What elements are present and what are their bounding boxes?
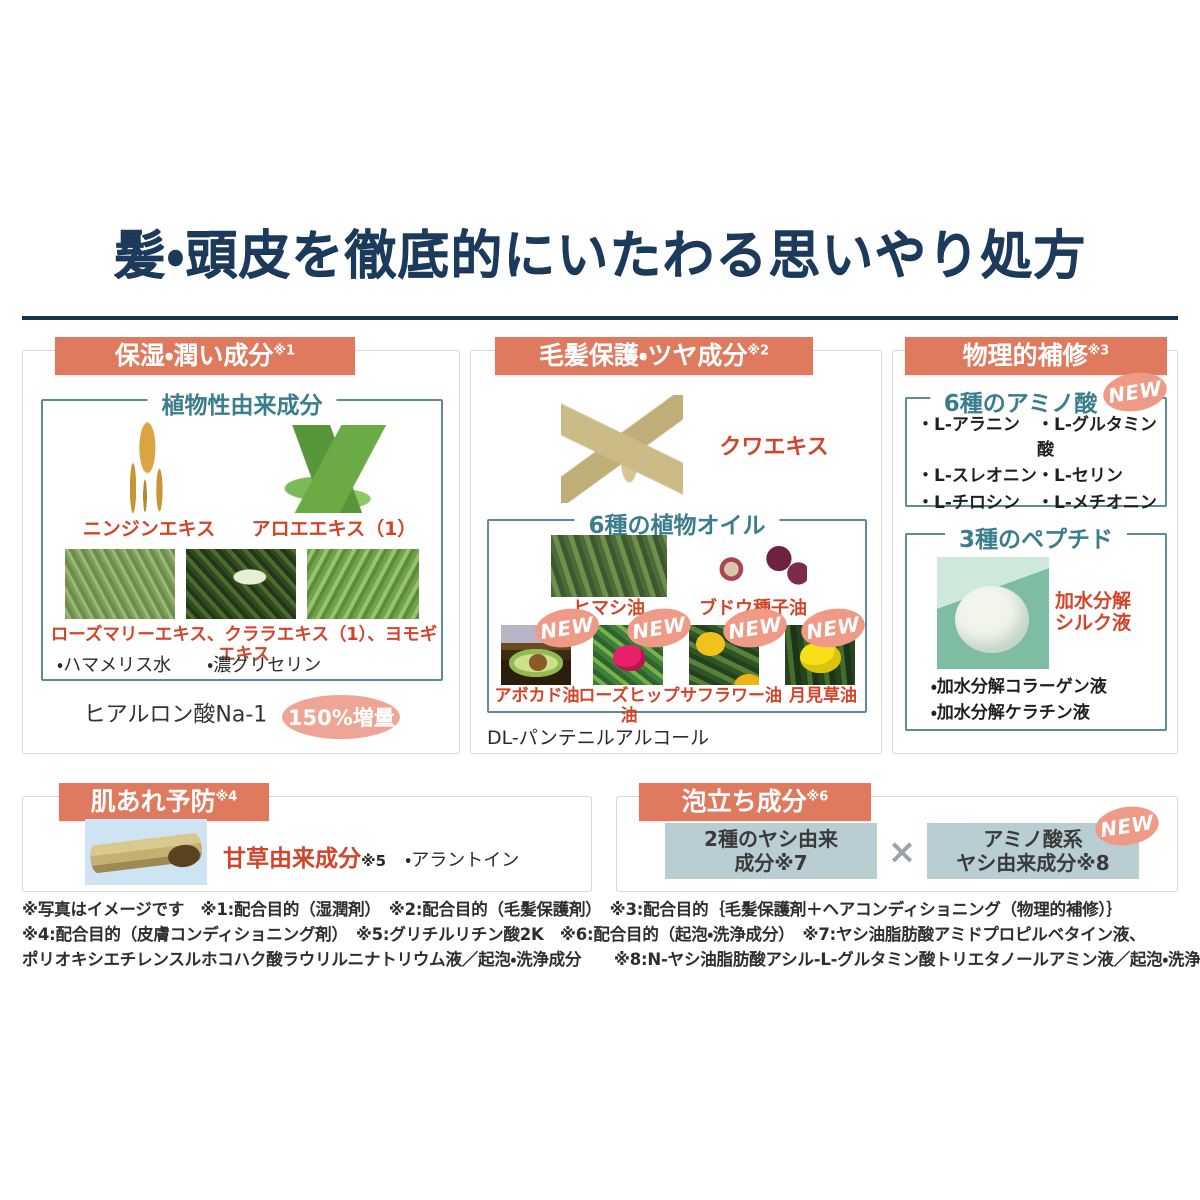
amino-item-2: ・L-スレオニン <box>917 464 1037 489</box>
licorice-photo <box>85 819 207 885</box>
hydrolyzed-silk-line1: 加水分解 <box>1055 591 1161 613</box>
panel-protect-header: 毛髪保護・ツヤ成分※2 <box>495 337 813 375</box>
avocado-oil-label: アボカド油 <box>489 687 585 707</box>
panel-protect-header-label: 毛髪保護・ツヤ成分 <box>539 341 748 370</box>
panthenol-label: DL-パンテニルアルコール <box>487 723 709 750</box>
foam-amino-line1: アミノ酸系 <box>956 827 1109 851</box>
panel-moisture: 保湿・潤い成分※1 植物性由来成分 ニンジンエキス アロエエキス（1） ローズマ… <box>22 350 460 754</box>
panel-skin-care-header-note: ※4 <box>216 790 238 805</box>
amino-item-0: ・L-アラニン <box>917 413 1037 462</box>
rosemary-photo <box>65 549 175 619</box>
panel-foam-header-label: 泡立ち成分 <box>682 787 807 816</box>
panel-foam-header: 泡立ち成分※6 <box>639 783 871 821</box>
safflower-oil-label: サフラワー油 <box>677 687 785 707</box>
moisture-sub-items: ・ハマメリス水 ・濃グリセリン <box>57 651 437 677</box>
foam-coconut-line2: 成分※7 <box>704 851 838 875</box>
hyaluronic-increase-badge: 150%増量 <box>282 695 400 739</box>
infographic-page: 髪・頭皮を徹底的にいたわる思いやり処方 保湿・潤い成分※1 植物性由来成分 ニン… <box>0 0 1200 1200</box>
panel-moisture-header-label: 保湿・潤い成分 <box>115 341 274 370</box>
moisture-plant-box-legend: 植物性由来成分 <box>148 386 337 420</box>
plant-oils-box: 6種の植物オイル ヒマシ油 ブドウ種子油 NEW アボカド油 NEW ローズヒッ… <box>487 519 867 713</box>
hyaluronic-label: ヒアルロン酸Na-1 <box>84 703 268 728</box>
panel-repair-header: 物理的補修※3 <box>905 337 1167 375</box>
footnotes: ※写真はイメージです ※1:配合目的（湿潤剤） ※2:配合目的（毛髪保護剤） ※… <box>22 898 1182 972</box>
evening-primrose-oil-label: 月見草油 <box>777 687 869 707</box>
foam-amino-line2: ヤシ由来成分※8 <box>956 851 1109 875</box>
peptide-box-legend: 3種のペプチド <box>945 520 1127 554</box>
yomogi-photo <box>307 549 419 619</box>
amino-item-1: ・L-グルタミン酸 <box>1037 413 1161 462</box>
castor-oil-photo <box>551 535 667 597</box>
panel-skin-care: 肌あれ予防※4 甘草由来成分※5 ・アラントイン <box>22 796 592 892</box>
silk-photo <box>937 557 1049 669</box>
aloe-photo <box>255 425 395 513</box>
licorice-label: 甘草由来成分 <box>223 846 361 872</box>
ginseng-photo <box>85 419 205 515</box>
footnote-line-2: ポリオキシエチレンスルホコハク酸ラウリルニナトリウム液／起泡・洗浄成分 ※8:N… <box>22 948 1182 973</box>
hydrolyzed-silk-label: 加水分解 シルク液 <box>1055 591 1161 635</box>
panel-protect-header-note: ※2 <box>747 344 769 359</box>
panel-repair-header-label: 物理的補修 <box>963 341 1088 370</box>
panel-foam-header-note: ※6 <box>807 790 829 805</box>
panel-skin-care-header-label: 肌あれ予防 <box>91 787 216 816</box>
page-title-wrap: 髪・頭皮を徹底的にいたわる思いやり処方 <box>0 228 1200 285</box>
grapeseed-oil-photo <box>699 535 807 597</box>
foam-box-coconut: 2種のヤシ由来 成分※7 <box>665 823 877 879</box>
licorice-text-row: 甘草由来成分※5 ・アラントイン <box>223 839 519 873</box>
panel-repair-header-note: ※3 <box>1088 344 1110 359</box>
foam-coconut-line1: 2種のヤシ由来 <box>704 827 838 851</box>
amino-item-5: ・L-メチオニン <box>1037 491 1161 516</box>
peptide-item-0: ・加水分解コラーゲン液 <box>931 675 1107 701</box>
rosehip-oil-label: ローズヒップ油 <box>573 687 685 726</box>
ginseng-label: ニンジンエキス <box>67 519 231 541</box>
page-title: 髪・頭皮を徹底的にいたわる思いやり処方 <box>0 228 1200 285</box>
title-divider <box>22 316 1178 320</box>
allantoin-label: ・アラントイン <box>405 850 519 871</box>
hydrolyzed-silk-line2: シルク液 <box>1055 613 1161 635</box>
panel-protect: 毛髪保護・ツヤ成分※2 クワエキス 6種の植物オイル ヒマシ油 ブドウ種子油 N… <box>470 350 882 754</box>
mulberry-label: クワエキス <box>689 435 859 460</box>
panel-skin-care-header: 肌あれ予防※4 <box>59 783 269 821</box>
panel-repair: 物理的補修※3 6種のアミノ酸 NEW ・L-アラニン ・L-グルタミン酸 ・L… <box>892 350 1178 754</box>
amino-item-3: ・L-セリン <box>1037 464 1161 489</box>
multiply-icon: × <box>885 835 919 869</box>
peptide-item-1: ・加水分解ケラチン液 <box>931 701 1107 727</box>
mulberry-photo <box>561 395 683 503</box>
panel-moisture-header: 保湿・潤い成分※1 <box>55 337 355 375</box>
panel-foam: 泡立ち成分※6 2種のヤシ由来 成分※7 × アミノ酸系 ヤシ由来成分※8 NE… <box>616 796 1178 892</box>
bottom-panels-row: 肌あれ予防※4 甘草由来成分※5 ・アラントイン 泡立ち成分※6 2種のヤシ由来… <box>22 784 1178 894</box>
hyaluronic-row: ヒアルロン酸Na-1 150%増量 <box>23 695 461 739</box>
licorice-note: ※5 <box>361 852 386 870</box>
footnote-line-0: ※写真はイメージです ※1:配合目的（湿潤剤） ※2:配合目的（毛髪保護剤） ※… <box>22 898 1182 923</box>
peptide-box: 3種のペプチド 加水分解 シルク液 ・加水分解コラーゲン液 ・加水分解ケラチン液 <box>905 533 1167 731</box>
moisture-plant-box: 植物性由来成分 ニンジンエキス アロエエキス（1） ローズマリーエキス、クララエ… <box>41 399 443 681</box>
aloe-label: アロエエキス（1） <box>241 519 427 541</box>
panel-moisture-header-note: ※1 <box>273 344 295 359</box>
footnote-line-1: ※4:配合目的（皮膚コンディショニング剤） ※5:グリチルリチン酸2K ※6:配… <box>22 923 1182 948</box>
amino-acid-box: 6種のアミノ酸 NEW ・L-アラニン ・L-グルタミン酸 ・L-スレオニン ・… <box>905 397 1167 507</box>
panels-row: 保湿・潤い成分※1 植物性由来成分 ニンジンエキス アロエエキス（1） ローズマ… <box>22 336 1178 754</box>
amino-item-4: ・L-チロシン <box>917 491 1037 516</box>
kurara-photo <box>186 549 296 619</box>
